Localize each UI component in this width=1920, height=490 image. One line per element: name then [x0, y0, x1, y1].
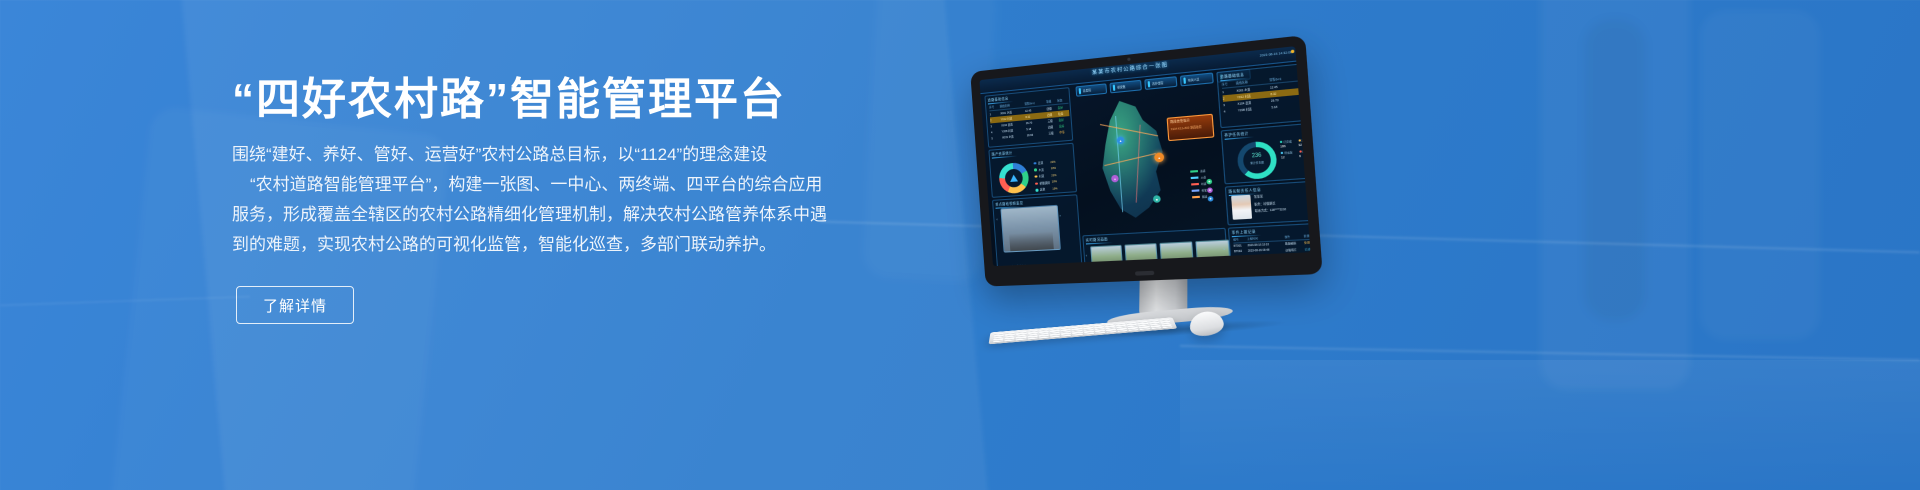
panel-title: 实时路况画面: [1085, 236, 1108, 242]
hero-description: 围绕“建好、养好、管好、运营好”农村公路总目标，以“1124”的理念建设 “农村…: [232, 140, 844, 260]
legend-swatch: [1033, 162, 1036, 165]
panel-video-thumbnails: 实时路况画面 ‹ ›: [1082, 228, 1228, 266]
chevron-right-icon[interactable]: ›: [1223, 246, 1225, 251]
legend-item: 县道23%: [1033, 160, 1055, 166]
legend-swatch: [1034, 169, 1037, 172]
panel-video-monitor: 重点路段视频监控 ‹ › S203 主干道 北段卡口: [992, 194, 1083, 266]
legend-value: 22%: [1051, 174, 1056, 177]
map-pin-alert-icon[interactable]: ▲: [1154, 152, 1164, 162]
desktop-computer-illustration: 某某市农村公路综合一张图 2023-08-16 14:32:08 总里程 桥梁数: [950, 21, 1510, 384]
dashboard-title: 某某市农村公路综合一张图: [1092, 61, 1169, 76]
person-row: 职务：村级路长: [1254, 200, 1286, 206]
panel-road-detail: 道路基础信息 序号 路线名称 里程(km) 状态 1 X001 乡道 12.45: [1216, 62, 1310, 128]
legend-value: 19%: [1052, 187, 1057, 190]
task-stat-grid: 已完成186 进行中32 待派发12 已超期6: [1280, 137, 1311, 160]
map-legend: 县道 乡道 村道 桥梁 隧道: [1190, 168, 1208, 201]
dashboard-clock: 2023-08-16 14:32:08: [1260, 50, 1293, 58]
video-main-feed[interactable]: [1000, 205, 1061, 253]
description-line-2: “农村道路智能管理平台”，构建一张图、一中心、两终端、四平台的综合应用: [232, 170, 844, 200]
chevron-right-icon[interactable]: ›: [1059, 213, 1061, 218]
panel-person-card: 路长制责任人信息 张某某 职务：村级路长 联系方式：138****3210: [1225, 180, 1311, 225]
panel-event-list: 事件上报记录 编号 上报时间 事件 处理状态 BT001 2023-08-16 …: [1228, 222, 1311, 262]
cell-status: 已完成: [1305, 251, 1310, 258]
road-network-map[interactable]: ▲ ● ■ ▲ 路段告警提示 X104 K12+500 路面破损 县道 乡道 村…: [1072, 85, 1225, 231]
description-line-4: 到的难题，实现农村公路的可视化监管，智能化巡查，多部门联动养护。: [232, 230, 844, 260]
legend-item: 村道22%: [1034, 173, 1056, 179]
person-name: 张某某: [1254, 193, 1286, 199]
webcam-icon: [1127, 58, 1130, 61]
cell: 标志缺失: [1286, 252, 1306, 259]
kpi-icon: [1183, 77, 1186, 84]
map-tool-strip[interactable]: ◆ ◆ ◆: [1206, 179, 1213, 205]
stat-item: 进行中32: [1298, 137, 1311, 147]
panel-road-list: 道路基础信息 序号 路线名称 里程(km) 等级 状态 1 X001 乡道: [984, 87, 1073, 148]
kpi-icon: [1113, 85, 1116, 91]
background-shape-3: [1540, 0, 1690, 390]
panel-title: 道路基础信息: [1220, 71, 1245, 79]
thumbnail-strip[interactable]: [1090, 240, 1230, 266]
legend-label: 其他: [1040, 188, 1045, 192]
video-caption: S203 主干道 北段卡口: [1005, 264, 1028, 267]
panel-title: 重点路段视频监控: [995, 200, 1023, 207]
legend-value: 23%: [1050, 160, 1055, 163]
stat-value: 12: [1281, 154, 1298, 160]
description-line-1: 围绕“建好、养好、管好、运营好”农村公路总目标，以“1124”的理念建设: [232, 140, 844, 170]
kpi-label: 总里程: [1083, 88, 1091, 93]
column-header: 状态: [1299, 72, 1311, 81]
cell-status: 中等: [1299, 79, 1310, 88]
avatar: [1231, 195, 1252, 220]
background-shape-4: [1700, 10, 1820, 340]
legend-label: 乡道: [1200, 175, 1206, 180]
chevron-left-icon[interactable]: ‹: [1086, 253, 1088, 258]
cell-status: 良好: [1300, 93, 1310, 101]
kpi-card[interactable]: 养护里程: [1144, 76, 1177, 90]
legend-swatch: [1034, 175, 1037, 178]
layer-icon[interactable]: ◆: [1206, 179, 1212, 185]
cell: BT003: [1234, 255, 1248, 262]
kpi-label: 在岗人员: [1188, 77, 1200, 82]
hero-banner: “四好农村路”智能管理平台 围绕“建好、养好、管好、运营好”农村公路总目标，以“…: [0, 0, 1920, 490]
description-line-3: 服务，形成覆盖全辖区的农村公路精细化管理机制，解决农村公路管养体系中遇: [232, 200, 844, 230]
keyboard-keys: [993, 319, 1173, 342]
stat-label: 已超期: [1302, 149, 1310, 154]
cell-status: 中等: [1059, 128, 1071, 135]
chevron-left-icon[interactable]: ‹: [996, 217, 998, 222]
cell: 5.18: [1271, 101, 1301, 110]
legend-label: 乡道: [1038, 167, 1043, 171]
cell: 5: [991, 135, 1002, 142]
cell-status: 良好: [1301, 100, 1311, 108]
person-row: 联系方式：138****3210: [1255, 207, 1287, 213]
video-thumbnail[interactable]: [1090, 245, 1123, 266]
legend-label: 桥隧涵洞: [1039, 180, 1050, 185]
camera-icon[interactable]: ◆: [1208, 196, 1214, 202]
map-pin-camera-icon[interactable]: ■: [1153, 195, 1161, 203]
status-indicator-icon: [1291, 50, 1295, 54]
legend-value: 18%: [1052, 180, 1057, 183]
dashboard-screen[interactable]: 某某市农村公路综合一张图 2023-08-16 14:32:08 总里程 桥梁数: [979, 46, 1310, 266]
legend-label: 村道: [1039, 174, 1044, 178]
keyboard[interactable]: [989, 317, 1178, 344]
stat-value: 186: [1280, 143, 1297, 149]
kpi-label: 桥梁数: [1117, 85, 1125, 90]
legend-swatch: [1035, 182, 1038, 185]
background-desk-haze: [1180, 360, 1920, 490]
callout-subtitle: X104 K12+500 路面破损: [1171, 124, 1202, 131]
kpi-icon: [1079, 88, 1082, 94]
cell-status: 处理中: [1304, 238, 1310, 246]
legend-swatch: [1035, 189, 1038, 192]
kpi-card[interactable]: 总里程: [1075, 83, 1107, 96]
hero-content: “四好农村路”智能管理平台 围绕“建好、养好、管好、运营好”农村公路总目标，以“…: [0, 0, 900, 490]
stat-value: 6: [1299, 153, 1310, 159]
kpi-card[interactable]: 桥梁数: [1109, 80, 1141, 94]
legend-label: 县道: [1200, 168, 1206, 173]
person-details: 张某某 职务：村级路长 联系方式：138****3210: [1254, 193, 1287, 217]
stat-value: 32: [1298, 141, 1310, 147]
stat-label: 待派发: [1284, 150, 1293, 155]
panel-title: 事件上报记录: [1231, 228, 1256, 235]
legend-item: 桥隧涵洞18%: [1035, 180, 1057, 186]
cell: 2023-08-16 08:15: [1248, 253, 1286, 261]
panel-title: 养护任务统计: [1224, 130, 1249, 137]
page-title: “四好农村路”智能管理平台: [232, 70, 892, 130]
kpi-label: 养护里程: [1152, 81, 1163, 86]
panel-title: 路长制责任人信息: [1228, 186, 1261, 194]
video-thumbnail[interactable]: [1125, 243, 1158, 264]
panel-task-stats: 养护任务统计 236 累计任务数 已完成186 进行中32 待派发12 已超期6: [1221, 122, 1311, 184]
road-list-table: 序号 路线名称 里程(km) 等级 状态 1 X001 乡道 12.45 四级 …: [989, 97, 1071, 142]
marker-icon[interactable]: ◆: [1207, 187, 1213, 193]
monitor: 某某市农村公路综合一张图 2023-08-16 14:32:08 总里程 桥梁数: [970, 35, 1323, 286]
legend-value: 18%: [1051, 167, 1056, 170]
panel-title: 道路基础信息: [987, 95, 1008, 102]
legend-item: 其他19%: [1035, 187, 1057, 193]
map-callout: 路段告警提示 X104 K12+500 路面破损: [1167, 114, 1215, 141]
monitor-logo: [1135, 271, 1154, 276]
cell: 4: [1224, 107, 1239, 115]
kpi-icon: [1148, 81, 1151, 88]
stat-item: 待派发12: [1281, 150, 1299, 160]
callout-title: 路段告警提示: [1170, 118, 1190, 124]
stat-item: 已超期6: [1299, 148, 1311, 158]
cell: 三级: [1048, 129, 1059, 136]
legend-label: 县道: [1038, 161, 1043, 165]
stat-label: 进行中: [1301, 137, 1310, 142]
panel-asset-chart: 路产资源统计 县道23% 乡道18% 村道22% 桥隧涵洞18% 其他19%: [988, 143, 1077, 198]
panel-title: 路产资源统计: [991, 150, 1012, 157]
learn-more-button[interactable]: 了解详情: [236, 286, 354, 324]
stat-item: 已完成186: [1280, 138, 1298, 148]
kpi-card[interactable]: 在岗人员: [1180, 72, 1214, 86]
asset-legend: 县道23% 乡道18% 村道22% 桥隧涵洞18% 其他19%: [1033, 160, 1057, 195]
asset-donut-chart: [998, 162, 1030, 194]
legend-item: 乡道18%: [1034, 166, 1056, 172]
video-thumbnail[interactable]: [1160, 241, 1194, 263]
cell: X033 乡道: [1002, 132, 1027, 140]
event-list-table: 编号 上报时间 事件 处理状态 BT001 2023-08-16 10:22 路…: [1233, 232, 1310, 262]
triangle-icon: [1010, 174, 1018, 182]
cell-status: 较差: [1300, 87, 1311, 95]
cell: 18.96: [1026, 130, 1048, 138]
